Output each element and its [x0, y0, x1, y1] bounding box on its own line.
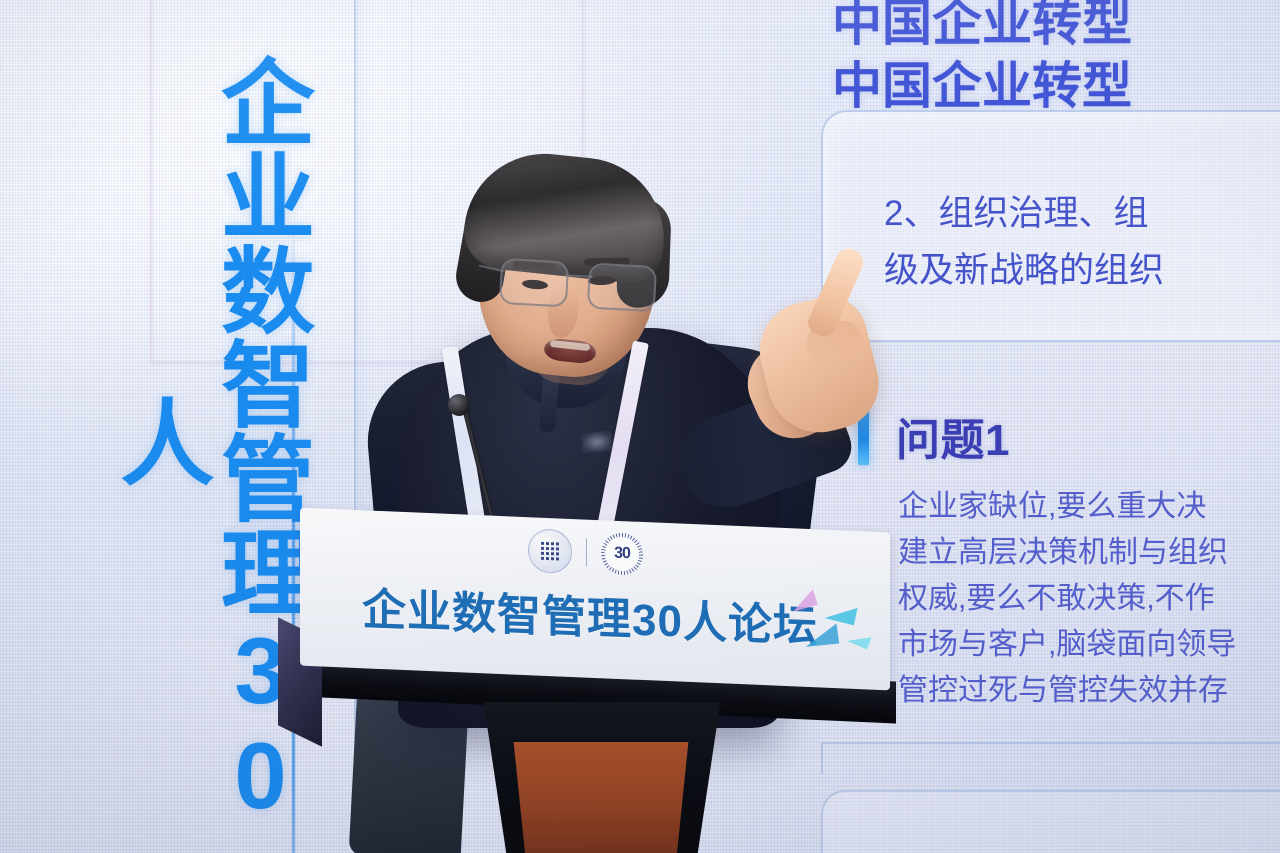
paper-plane-icon	[824, 601, 857, 626]
card-text-line-1: 2、组织治理、组	[884, 186, 1280, 243]
logo-divider	[586, 539, 587, 567]
question-body-line: 建立高层决策机制与组织	[898, 530, 1280, 576]
eyeglass-lens-right	[587, 263, 657, 312]
paper-plane-decoration	[786, 590, 896, 666]
eyeglasses-icon	[499, 258, 657, 312]
question-body-line: 市场与客户,脑袋面向领导	[898, 622, 1280, 668]
question-body-line: 管控过死与管控失效并存	[898, 668, 1280, 714]
question-body-line: 企业家缺位,要么重大决	[898, 484, 1280, 530]
eyeglass-lens-left	[499, 258, 569, 307]
shirt-embroidered-logo	[581, 430, 613, 453]
paper-plane-icon	[788, 589, 818, 611]
paper-plane-icon	[803, 624, 839, 647]
forum-emblem-icon	[528, 528, 572, 574]
slide-card-text: 2、组织治理、组 级及新战略的组织	[884, 186, 1280, 299]
question-body-line: 权威,要么不敢决策,不作	[898, 576, 1280, 622]
card-text-line-2: 级及新战略的组织	[884, 243, 1280, 300]
conference-stage-photo: 企业数智管理30人 中国企业转型 中国企业转型 2、组织治理、组 级及新战略的组…	[0, 0, 1280, 853]
lectern: 30 企业数智管理30人论坛	[300, 520, 910, 853]
lectern-logo-row: 30	[528, 527, 668, 578]
slide-title-line-2: 中国企业转型	[832, 55, 1280, 118]
lectern-wood-panel	[506, 742, 696, 853]
emblem-dot-grid	[541, 542, 559, 561]
paper-plane-icon	[846, 629, 871, 649]
anniversary-30-emblem-icon: 30	[601, 532, 643, 576]
question-heading: 问题1	[896, 404, 1010, 468]
slide-title-line-1: 中国企业转型	[832, 0, 1280, 55]
microphone-head	[448, 394, 470, 416]
question-body: 企业家缺位,要么重大决 建立高层决策机制与组织 权威,要么不敢决策,不作 市场与…	[898, 484, 1280, 713]
slide-title: 中国企业转型 中国企业转型	[832, 0, 1280, 118]
emblem-number: 30	[614, 545, 630, 564]
